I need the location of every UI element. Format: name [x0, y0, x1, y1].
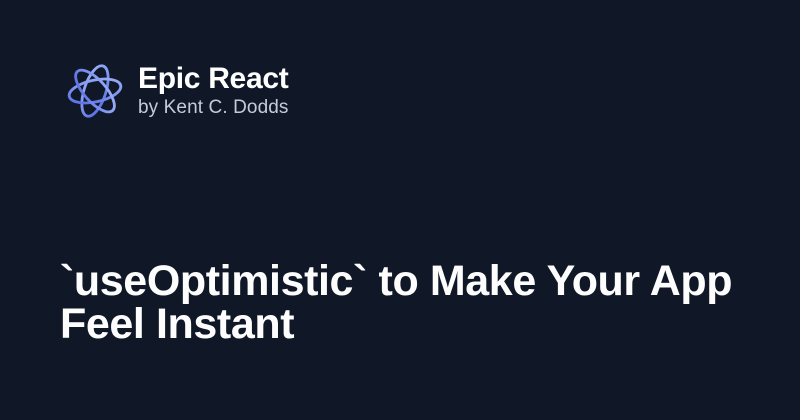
brand-text-group: Epic React by Kent C. Dodds	[138, 62, 289, 119]
brand-subtitle: by Kent C. Dodds	[138, 97, 289, 120]
brand-lockup: Epic React by Kent C. Dodds	[66, 62, 289, 120]
atom-icon	[66, 62, 124, 120]
page-title: `useOptimistic` to Make Your App Feel In…	[60, 260, 750, 346]
social-share-card: Epic React by Kent C. Dodds `useOptimist…	[0, 0, 800, 420]
brand-title: Epic React	[138, 62, 289, 96]
